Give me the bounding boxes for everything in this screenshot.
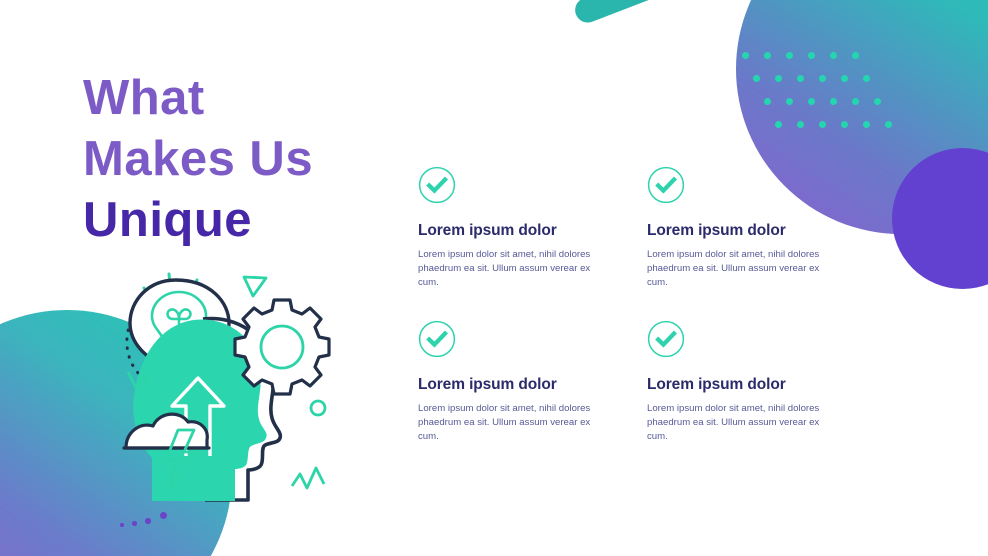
grid-dot	[775, 121, 782, 128]
feature-item-1[interactable]: Lorem ipsum dolor Lorem ipsum dolor sit …	[418, 166, 644, 320]
grid-dot	[764, 98, 771, 105]
feature-item-4[interactable]: Lorem ipsum dolor Lorem ipsum dolor sit …	[647, 320, 873, 474]
cloud-icon	[126, 414, 207, 448]
purple-dots-icon	[120, 512, 190, 534]
feature-body: Lorem ipsum dolor sit amet, nihil dolore…	[647, 248, 825, 291]
lightbulb-icon	[152, 292, 206, 362]
purple-dot	[145, 518, 151, 524]
grid-dot	[841, 75, 848, 82]
grid-dot	[819, 121, 826, 128]
feature-item-3[interactable]: Lorem ipsum dolor Lorem ipsum dolor sit …	[418, 320, 644, 474]
page-title: What Makes Us Unique	[83, 68, 413, 251]
grid-dot	[775, 75, 782, 82]
feature-body: Lorem ipsum dolor sit amet, nihil dolore…	[647, 402, 825, 445]
circle-outline-icon	[311, 401, 325, 415]
purple-dot	[132, 521, 137, 526]
grid-dot	[852, 98, 859, 105]
grid-dot	[885, 121, 892, 128]
grid-dot	[841, 121, 848, 128]
lightning-bolt-icon	[166, 430, 195, 486]
grid-dot	[874, 98, 881, 105]
grid-dot	[852, 52, 859, 59]
feature-grid: Lorem ipsum dolor Lorem ipsum dolor sit …	[418, 166, 873, 474]
page-title-line-2: Makes Us	[83, 129, 413, 190]
teal-dot-grid-icon	[742, 52, 882, 152]
grid-dot	[863, 75, 870, 82]
purple-dot	[160, 512, 167, 519]
page-title-line-3: Unique	[83, 190, 413, 251]
grid-dot	[830, 98, 837, 105]
grid-dot	[808, 52, 815, 59]
grid-dot	[797, 121, 804, 128]
solid-circle-right-icon	[892, 148, 988, 289]
slide-canvas: What Makes Us Unique Lorem ipsum dolor L…	[0, 0, 988, 556]
bulb-rays-icon	[144, 274, 216, 308]
zigzag-line-right-icon	[292, 468, 324, 488]
grid-dot	[786, 98, 793, 105]
feature-title: Lorem ipsum dolor	[647, 222, 873, 240]
grid-dot	[808, 98, 815, 105]
check-circle-icon	[418, 320, 456, 358]
grid-dot	[797, 75, 804, 82]
grid-dot	[764, 52, 771, 59]
gradient-circle-bottom-left-icon	[0, 310, 232, 556]
feature-body: Lorem ipsum dolor sit amet, nihil dolore…	[418, 248, 596, 291]
creative-mind-illustration	[96, 272, 346, 532]
feature-title: Lorem ipsum dolor	[418, 222, 644, 240]
page-title-line-1: What	[83, 68, 413, 129]
feature-item-2[interactable]: Lorem ipsum dolor Lorem ipsum dolor sit …	[647, 166, 873, 320]
feature-title: Lorem ipsum dolor	[647, 376, 873, 394]
speech-bubble	[130, 280, 229, 390]
teal-bar-top-icon	[572, 0, 719, 26]
feature-title: Lorem ipsum dolor	[418, 376, 644, 394]
head-silhouette	[133, 320, 266, 501]
grid-dot	[863, 121, 870, 128]
triangle-outline-icon	[244, 277, 266, 296]
check-circle-icon	[418, 166, 456, 204]
dotted-arc-icon	[127, 306, 152, 384]
zigzag-line-left-icon	[128, 372, 149, 388]
grid-dot	[819, 75, 826, 82]
gear-icon	[235, 300, 329, 394]
check-circle-icon	[647, 166, 685, 204]
up-arrow-icon	[172, 378, 224, 456]
grid-dot	[786, 52, 793, 59]
feature-body: Lorem ipsum dolor sit amet, nihil dolore…	[418, 402, 596, 445]
check-circle-icon	[647, 320, 685, 358]
grid-dot	[753, 75, 760, 82]
head-outline	[203, 319, 280, 500]
grid-dot	[742, 52, 749, 59]
grid-dot	[830, 52, 837, 59]
purple-dot	[120, 523, 124, 527]
